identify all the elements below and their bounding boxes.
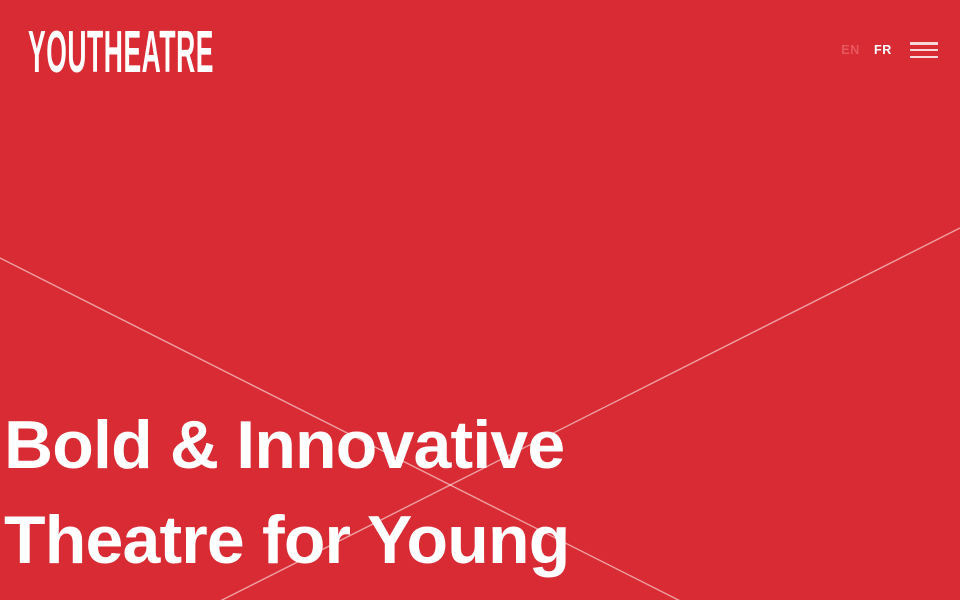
- site-header: YOUTHEATRE EN FR: [0, 0, 960, 100]
- hero-copy: Bold & Innovative Theatre for Young: [0, 398, 960, 588]
- hamburger-bar-bottom: [910, 56, 938, 59]
- svg-text:YOUTHEATRE: YOUTHEATRE: [28, 27, 214, 73]
- logo-wordmark-icon: YOUTHEATRE: [28, 27, 214, 73]
- header-right-cluster: EN FR: [841, 39, 938, 61]
- hero-title-line-1: Bold & Innovative: [4, 398, 960, 493]
- lang-option-en[interactable]: EN: [841, 42, 860, 59]
- hero-title-line-2: Theatre for Young: [4, 493, 960, 588]
- hamburger-bar-middle: [910, 49, 938, 52]
- page-title: Bold & Innovative Theatre for Young: [4, 398, 960, 588]
- hamburger-menu-icon[interactable]: [910, 39, 938, 61]
- lang-option-fr[interactable]: FR: [874, 42, 892, 59]
- language-switcher: EN FR: [841, 42, 892, 59]
- hamburger-bar-top: [910, 42, 938, 45]
- hero-section: YOUTHEATRE EN FR Bold & Innovative Theat…: [0, 0, 960, 600]
- logo-youtheatre[interactable]: YOUTHEATRE: [28, 27, 214, 73]
